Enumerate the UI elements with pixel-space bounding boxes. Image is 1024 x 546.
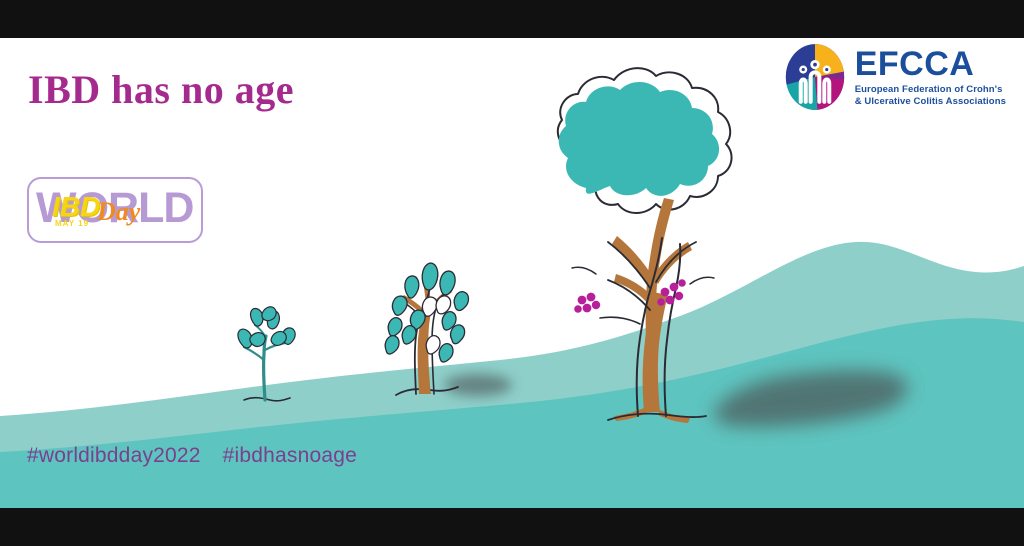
efcca-wordmark: EFCCA European Federation of Crohn's & U… — [855, 47, 1006, 107]
efcca-tagline-line1: European Federation of Crohn's — [855, 84, 1006, 96]
efcca-tagline-line2: & Ulcerative Colitis Associations — [855, 96, 1006, 108]
hashtag-row: #worldibdday2022 #ibdhasnoage — [27, 444, 357, 468]
hashtag-worldibdday: #worldibdday2022 — [27, 444, 201, 468]
seedling-leaf — [250, 333, 265, 347]
logo-word-ibd: IBD — [52, 193, 100, 221]
page-title: IBD has no age — [28, 66, 294, 113]
efcca-emblem-icon — [784, 42, 846, 112]
efcca-tagline: European Federation of Crohn's & Ulcerat… — [855, 84, 1006, 107]
shadow-sapling — [444, 374, 512, 396]
efcca-logo: EFCCA European Federation of Crohn's & U… — [784, 42, 1006, 112]
banner-root: IBD has no age WORLD IBD MAY 19 Day — [0, 0, 1024, 546]
world-ibd-day-logo: WORLD IBD MAY 19 Day — [27, 177, 203, 243]
efcca-name: EFCCA — [855, 47, 1006, 81]
hashtag-ibdhasnoage: #ibdhasnoage — [223, 444, 357, 468]
logo-word-may: MAY 19 — [55, 219, 89, 228]
letterbox-bottom — [0, 508, 1024, 546]
artwork-area: IBD has no age WORLD IBD MAY 19 Day — [0, 38, 1024, 508]
letterbox-top — [0, 0, 1024, 38]
logo-word-day: Day — [97, 199, 140, 225]
